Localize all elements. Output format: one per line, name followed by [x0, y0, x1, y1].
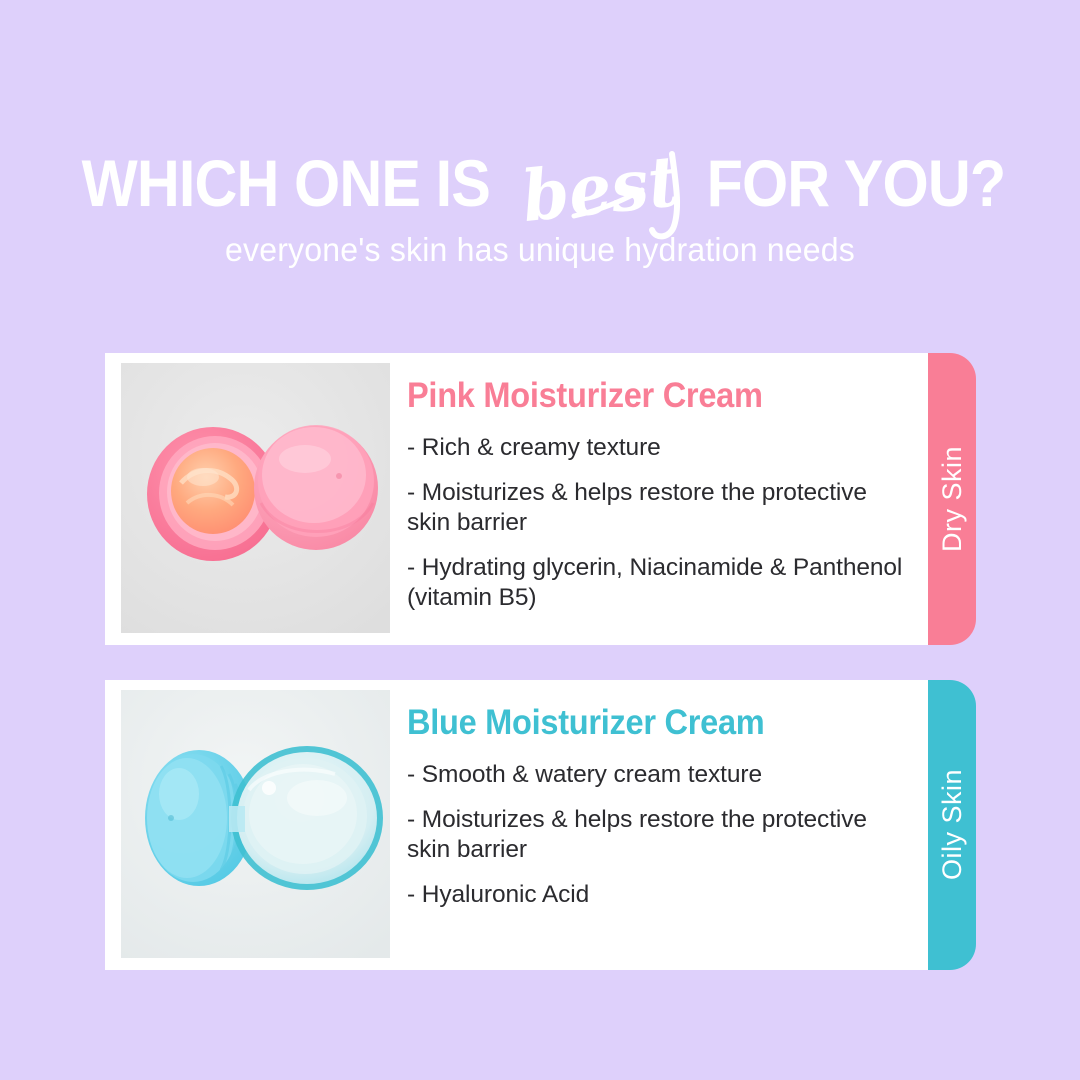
product-text-pink: Pink Moisturizer Cream - Rich & creamy t…: [390, 363, 928, 613]
product-title-blue: Blue Moisturizer Cream: [407, 702, 873, 744]
page-title: WHICH ONE IS best FOR YOU?: [0, 138, 1080, 228]
product-bullet: - Rich & creamy texture: [407, 433, 908, 463]
product-photo-blue: [121, 690, 390, 958]
product-bullet: - Moisturizes & helps restore the protec…: [407, 805, 908, 865]
product-bullet: - Hydrating glycerin, Niacinamide & Pant…: [407, 553, 908, 613]
product-card-pink[interactable]: Pink Moisturizer Cream - Rich & creamy t…: [105, 353, 928, 645]
skin-type-tab-oily[interactable]: Oily Skin: [928, 680, 976, 970]
header: WHICH ONE IS best FOR YOU? everyone's sk…: [0, 0, 1080, 330]
headline-after: FOR YOU?: [706, 150, 1005, 216]
headline-script-word: best: [514, 145, 689, 232]
skin-type-tab-oily-label: Oily Skin: [937, 769, 968, 880]
product-text-blue: Blue Moisturizer Cream - Smooth & watery…: [390, 690, 928, 910]
skin-type-tab-dry[interactable]: Dry Skin: [928, 353, 976, 645]
product-card-blue[interactable]: Blue Moisturizer Cream - Smooth & watery…: [105, 680, 928, 970]
headline-before: WHICH ONE IS: [81, 150, 489, 216]
page-subtitle: everyone's skin has unique hydration nee…: [16, 229, 1064, 271]
product-bullet: - Moisturizes & helps restore the protec…: [407, 478, 908, 538]
skin-type-tab-dry-label: Dry Skin: [937, 446, 968, 552]
product-photo-pink: [121, 363, 390, 633]
product-title-pink: Pink Moisturizer Cream: [407, 375, 873, 417]
product-bullet: - Hyaluronic Acid: [407, 880, 908, 910]
product-bullet: - Smooth & watery cream texture: [407, 760, 908, 790]
